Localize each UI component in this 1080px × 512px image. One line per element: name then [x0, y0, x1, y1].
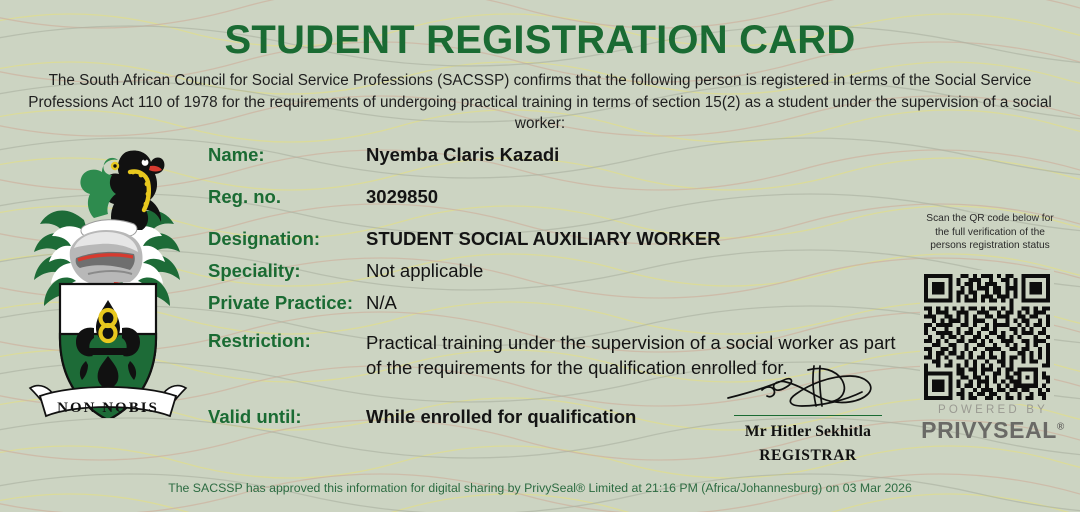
field-value-valid-until: While enrolled for qualification: [366, 406, 636, 428]
field-label-designation: Designation:: [208, 228, 320, 250]
qr-instruction-line-2: the full verification of the: [905, 226, 1075, 240]
field-value-designation: STUDENT SOCIAL AUXILIARY WORKER: [366, 228, 721, 250]
footer-approval-text: The SACSSP has approved this information…: [0, 481, 1080, 495]
field-label-private-practice: Private Practice:: [208, 292, 353, 314]
emblem-motto: NON NOBIS: [57, 400, 159, 416]
powered-by-label: POWERED BY: [912, 404, 1074, 416]
registrar-name: Mr Hitler Sekhitla: [718, 423, 898, 441]
signature-block: Mr Hitler Sekhitla REGISTRAR: [718, 364, 898, 465]
qr-instruction-text: Scan the QR code below for the full veri…: [905, 212, 1075, 253]
coat-of-arms-icon: NON NOBIS: [14, 142, 200, 418]
registrar-role: REGISTRAR: [718, 447, 898, 465]
field-label-speciality: Speciality:: [208, 260, 301, 282]
privyseal-logo-text: PRIVYSEAL®: [912, 417, 1074, 444]
registered-trademark-icon: ®: [1057, 421, 1065, 432]
field-label-restriction: Restriction:: [208, 330, 311, 352]
page-title: STUDENT REGISTRATION CARD: [0, 18, 1080, 63]
field-label-reg-no: Reg. no.: [208, 186, 281, 208]
student-registration-card: STUDENT REGISTRATION CARD The South Afri…: [0, 0, 1080, 512]
qr-instruction-line-3: persons registration status: [905, 239, 1075, 253]
handwritten-signature-icon: [718, 364, 898, 410]
field-value-speciality: Not applicable: [366, 260, 483, 282]
signature-underline: [734, 415, 882, 416]
privyseal-wordmark: PRIVYSEAL: [921, 417, 1057, 443]
qr-code[interactable]: [920, 270, 1054, 404]
intro-paragraph: The South African Council for Social Ser…: [28, 70, 1052, 135]
field-label-valid-until: Valid until:: [208, 406, 302, 428]
privyseal-branding: POWERED BY PRIVYSEAL®: [912, 404, 1074, 444]
field-value-reg-no: 3029850: [366, 186, 438, 208]
field-value-private-practice: N/A: [366, 292, 397, 314]
field-label-name: Name:: [208, 144, 265, 166]
qr-instruction-line-1: Scan the QR code below for: [905, 212, 1075, 226]
field-value-name: Nyemba Claris Kazadi: [366, 144, 559, 166]
